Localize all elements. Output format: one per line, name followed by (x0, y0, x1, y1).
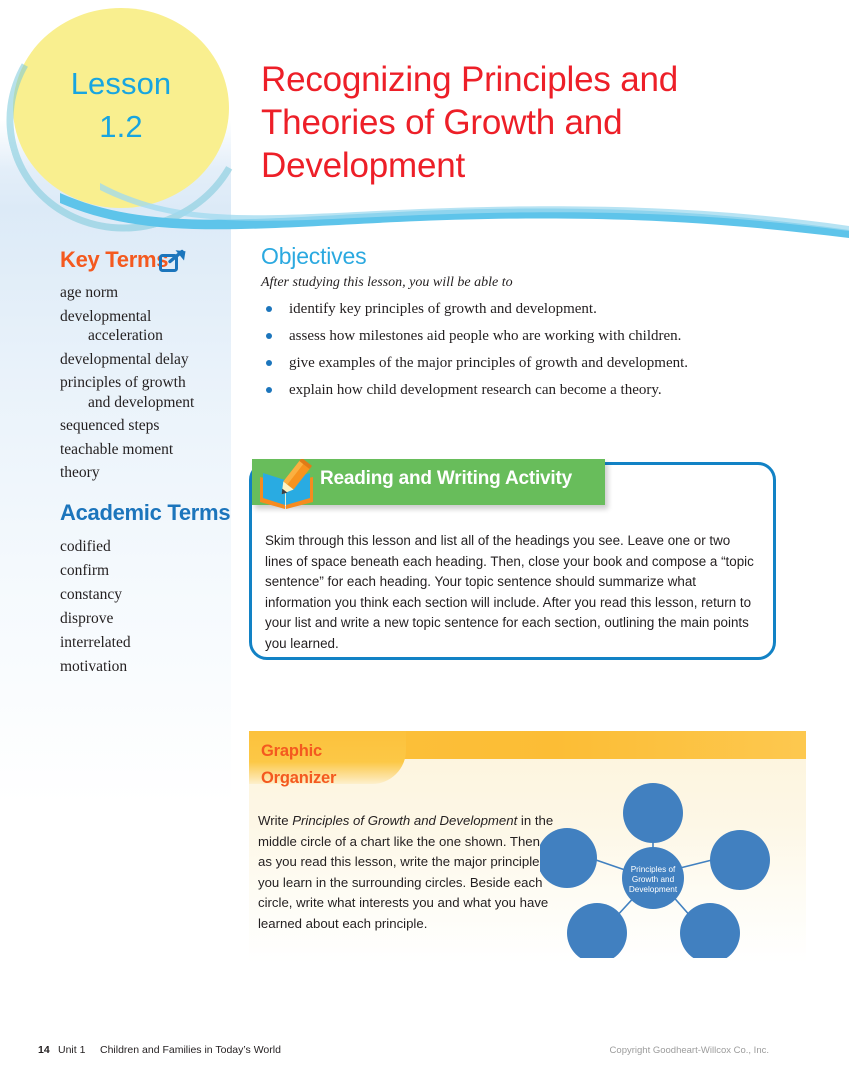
lesson-number: 1.2 (13, 105, 229, 148)
objectives-intro: After studying this lesson, you will be … (261, 275, 513, 291)
list-item: theory (60, 463, 225, 483)
outer-circle-bottom-left (567, 903, 627, 958)
go-body-after: in the middle circle of a chart like the… (258, 813, 553, 931)
list-item: teachable moment (60, 440, 225, 460)
graphic-organizer-heading-line2: Organizer (261, 765, 411, 792)
list-item: disprove (60, 607, 225, 631)
footer-copyright: Copyright Goodheart-Willcox Co., Inc. (610, 1045, 769, 1056)
academic-terms-heading: Academic Terms (60, 500, 230, 526)
center-label-line1: Principles of (631, 865, 676, 874)
list-item: codified (60, 535, 225, 559)
footer-page-number: 14 (38, 1044, 50, 1056)
book-and-pencil-icon (256, 459, 318, 515)
graphic-organizer-diagram: Principles of Growth and Development (540, 768, 780, 958)
list-item: age norm (60, 283, 225, 303)
outer-circle-top (623, 783, 683, 843)
textbook-page: Lesson 1.2 Recognizing Principles and Th… (0, 0, 849, 1087)
center-label-line2: Growth and (632, 875, 675, 884)
list-item: give examples of the major principles of… (261, 354, 781, 372)
list-item: constancy (60, 583, 225, 607)
reading-writing-activity-body: Skim through this lesson and list all of… (265, 531, 759, 654)
list-item: interrelated (60, 631, 225, 655)
academic-terms-list: codified confirm constancy disprove inte… (60, 535, 225, 679)
outer-circle-bottom-right (680, 903, 740, 958)
objectives-heading: Objectives (261, 243, 366, 270)
lesson-badge-label: Lesson 1.2 (13, 62, 229, 148)
list-item: motivation (60, 655, 225, 679)
external-link-icon[interactable] (159, 249, 187, 273)
center-label-line3: Development (629, 885, 678, 894)
footer-unit-title: Children and Families in Today’s World (100, 1044, 281, 1056)
list-item: identify key principles of growth and de… (261, 300, 781, 318)
go-body-italic: Principles of Growth and Development (292, 813, 517, 828)
list-item: developmental delay (60, 350, 225, 370)
footer-unit: Unit 1 (58, 1044, 85, 1056)
list-item: principles of growthand development (60, 373, 225, 412)
list-item: sequenced steps (60, 416, 225, 436)
graphic-organizer-body: Write Principles of Growth and Developme… (258, 811, 558, 934)
key-terms-list: age norm developmentalacceleration devel… (60, 283, 225, 487)
list-item: developmentalacceleration (60, 307, 225, 346)
list-item: explain how child development research c… (261, 381, 781, 399)
reading-writing-activity-title: Reading and Writing Activity (320, 468, 572, 490)
list-item: confirm (60, 559, 225, 583)
list-item: assess how milestones aid people who are… (261, 327, 781, 345)
objectives-list: identify key principles of growth and de… (261, 300, 781, 408)
key-terms-heading: Key Terms (60, 247, 168, 273)
outer-circle-right (710, 830, 770, 890)
go-body-before: Write (258, 813, 292, 828)
page-title: Recognizing Principles and Theories of G… (261, 58, 781, 187)
graphic-organizer-heading-line1: Graphic (261, 738, 411, 765)
graphic-organizer-heading: Graphic Organizer (261, 738, 411, 792)
wave-divider (0, 178, 849, 238)
outer-circle-left (540, 828, 597, 888)
lesson-word: Lesson (13, 62, 229, 105)
